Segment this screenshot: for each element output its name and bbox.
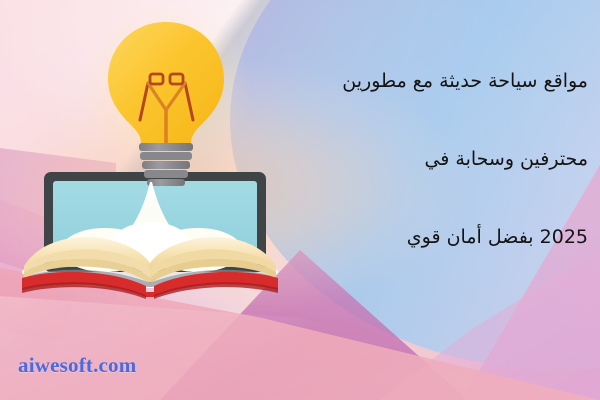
headline-text-block: مواقع سياحة حديثة مع مطورين محترفين وسحا…: [238, 42, 588, 276]
banner-canvas: مواقع سياحة حديثة مع مطورين محترفين وسحا…: [0, 0, 600, 400]
headline-line-3: 2025 بفضل أمان قوي: [238, 198, 588, 276]
headline-line-1: مواقع سياحة حديثة مع مطورين: [238, 42, 588, 120]
headline-line-2: محترفين وسحابة في: [238, 120, 588, 198]
watermark-aiwesoft: aiwesoft.com: [18, 353, 136, 378]
